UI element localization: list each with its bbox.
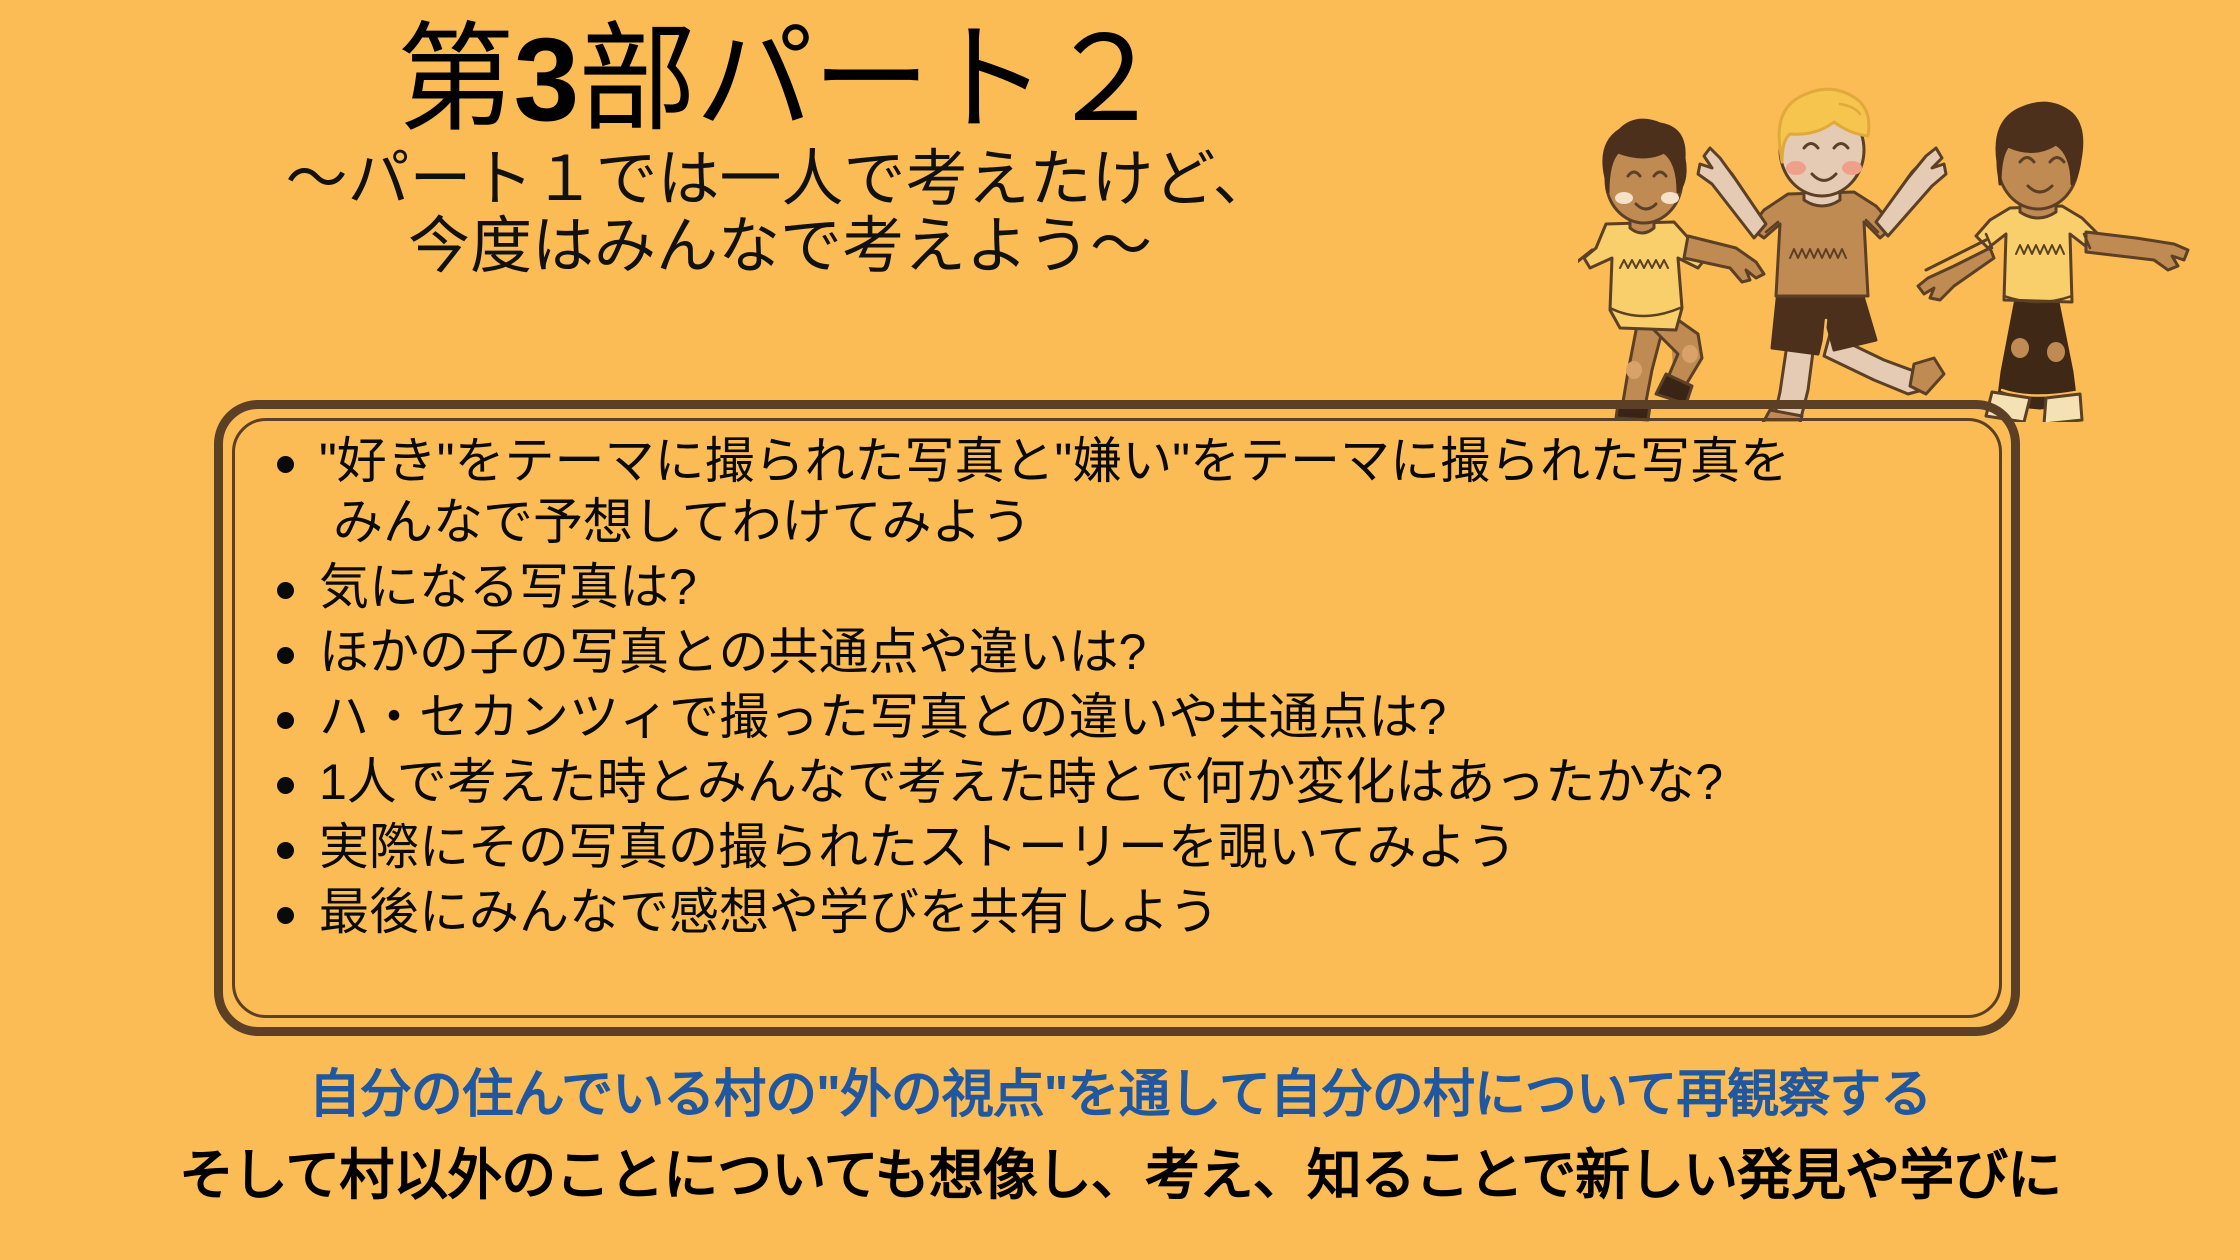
- footer-secondary-text: そして村以外のことについても想像し、考え、知ることで新しい発見や学びに: [0, 1130, 2240, 1210]
- bullet-text-wrap: みんなで予想してわけてみよう: [319, 492, 2011, 553]
- three-jumping-children-illustration: [1578, 52, 2240, 422]
- list-item: "好き"をテーマに撮られた写真と"嫌い"をテーマに撮られた写真を みんなで予想し…: [267, 431, 2011, 553]
- list-item: 1人で考えた時とみんなで考えた時とで何か変化はあったかな?: [267, 752, 2011, 813]
- list-item: 気になる写真は?: [267, 557, 2011, 618]
- page-title: 第3部パート２: [0, 18, 1560, 143]
- bullet-list: "好き"をテーマに撮られた写真と"嫌い"をテーマに撮られた写真を みんなで予想し…: [223, 409, 2011, 943]
- bullet-text: 最後にみんなで感想や学びを共有しよう: [319, 884, 1219, 940]
- bullet-text: ほかの子の写真との共通点や違いは?: [319, 624, 1146, 680]
- title-number: 3: [514, 14, 579, 146]
- bullet-text: "好き"をテーマに撮られた写真と"嫌い"をテーマに撮られた写真を: [319, 433, 1790, 489]
- bullet-text: ハ・セカンツィで撮った写真との違いや共通点は?: [319, 689, 1446, 745]
- bullet-text: 1人で考えた時とみんなで考えた時とで何か変化はあったかな?: [319, 754, 1723, 810]
- list-item: ほかの子の写真との共通点や違いは?: [267, 622, 2011, 683]
- title-suffix: 部パート２: [578, 14, 1163, 146]
- bullet-text: 実際にその写真の撮られたストーリーを覗いてみよう: [319, 819, 1517, 875]
- child-left: [1578, 120, 1764, 420]
- child-center: [1698, 89, 1946, 422]
- footer-highlight-text: 自分の住んでいる村の"外の視点"を通して自分の村について再観察する: [0, 1052, 2240, 1127]
- list-item: 最後にみんなで感想や学びを共有しよう: [267, 882, 2011, 943]
- subtitle-line-1: 〜パート１では一人で考えたけど、: [0, 147, 1560, 214]
- child-right: [1918, 103, 2188, 422]
- list-item: 実際にその写真の撮られたストーリーを覗いてみよう: [267, 817, 2011, 878]
- slide-header: 第3部パート２ 〜パート１では一人で考えたけど、 今度はみんなで考えよう〜: [0, 18, 1560, 281]
- page-subtitle: 〜パート１では一人で考えたけど、 今度はみんなで考えよう〜: [0, 147, 1560, 281]
- subtitle-line-2: 今度はみんなで考えよう〜: [0, 214, 1560, 281]
- bullet-text: 気になる写真は?: [319, 559, 697, 615]
- list-item: ハ・セカンツィで撮った写真との違いや共通点は?: [267, 687, 2011, 748]
- slide-root: 第3部パート２ 〜パート１では一人で考えたけど、 今度はみんなで考えよう〜: [0, 0, 2240, 1260]
- title-prefix: 第: [397, 14, 514, 146]
- content-box: "好き"をテーマに撮られた写真と"嫌い"をテーマに撮られた写真を みんなで予想し…: [214, 400, 2020, 1036]
